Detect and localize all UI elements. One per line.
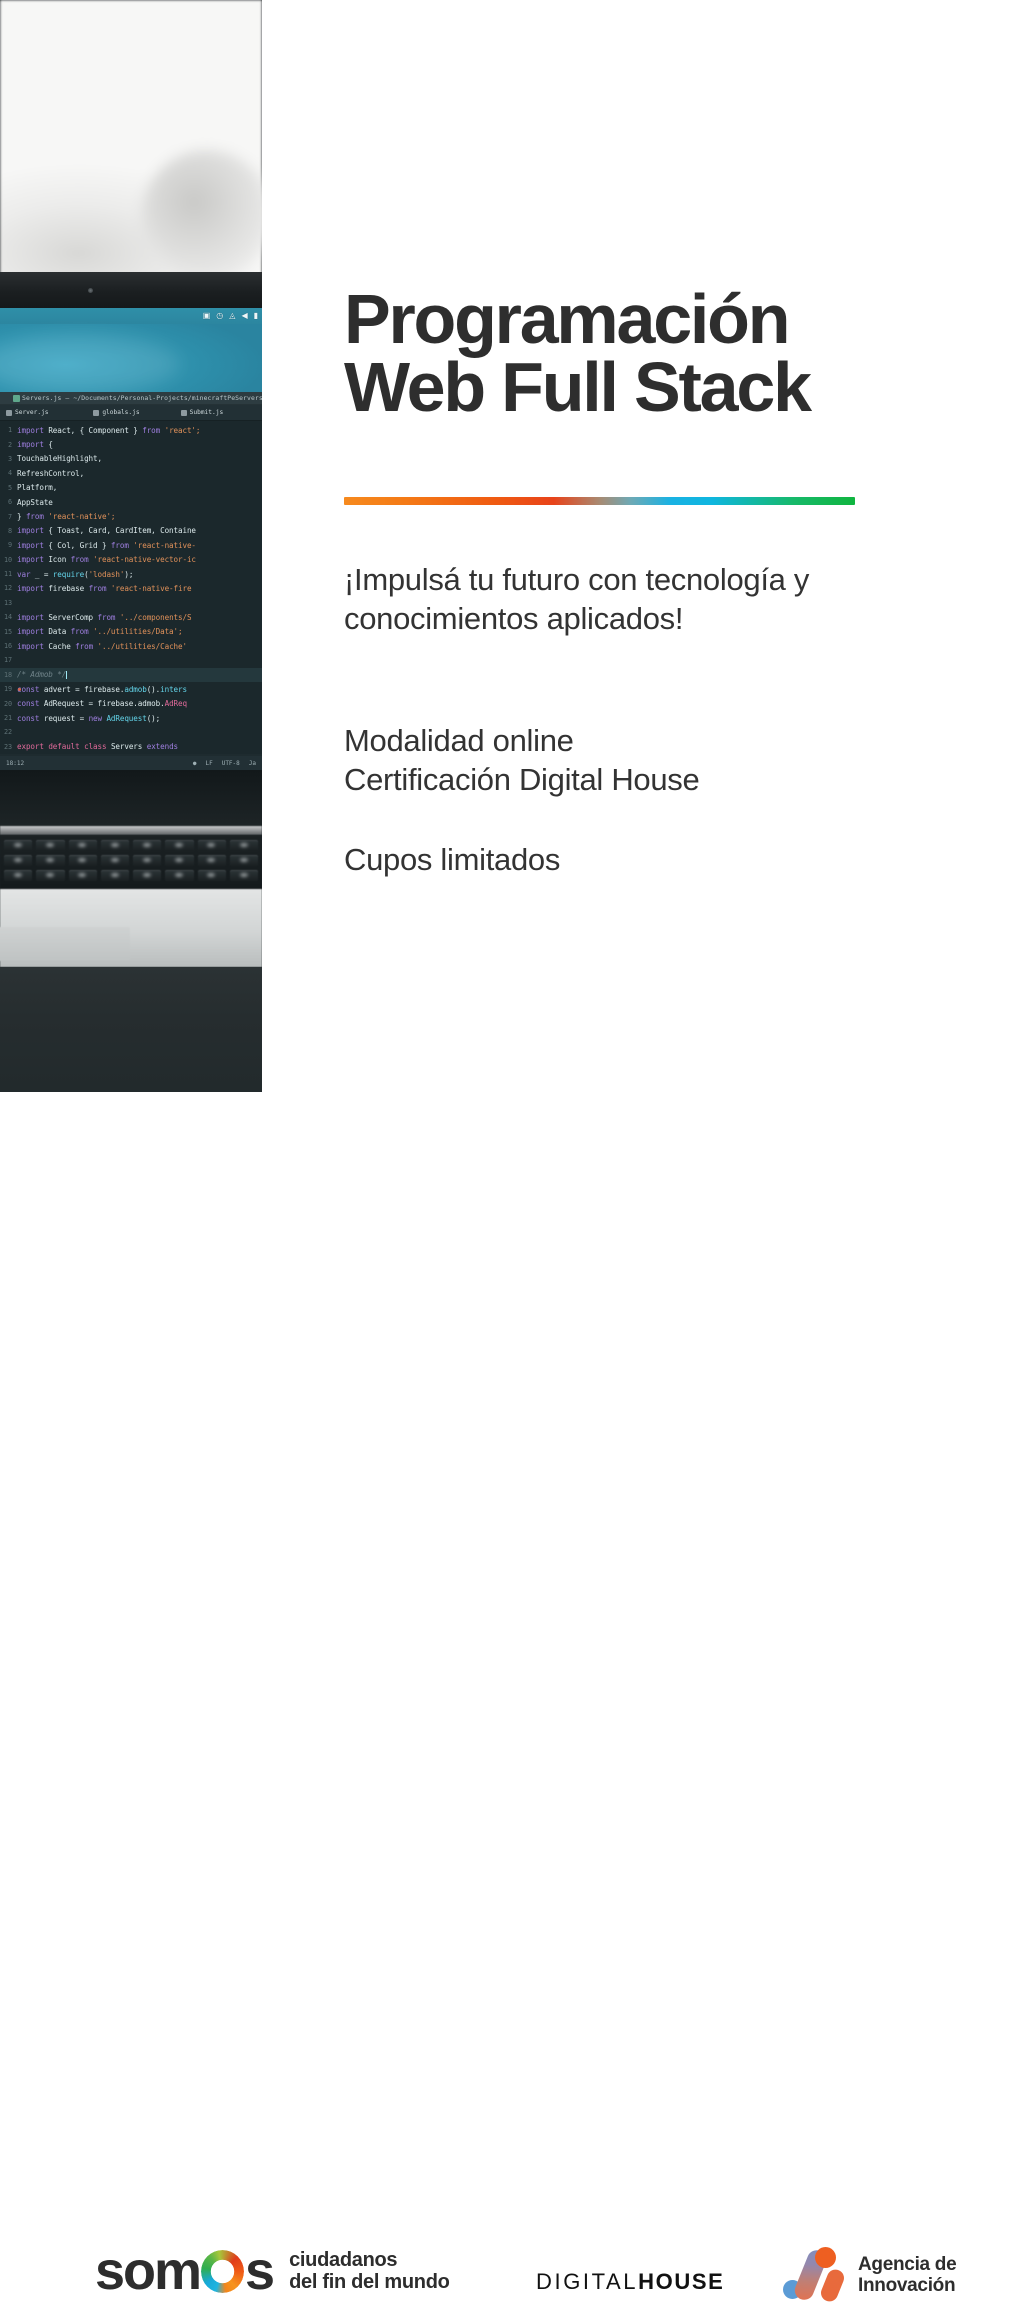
code-text: } from 'react-native'; <box>17 512 115 521</box>
somos-logo: som s ciudadanos del fin del mundo <box>95 2244 450 2298</box>
tagline-paragraph: ¡Impulsá tu futuro con tecnología y cono… <box>344 560 814 638</box>
camera-icon: ▣ <box>203 312 211 320</box>
keyboard-key <box>198 840 226 851</box>
somos-wordmark: som s <box>95 2244 273 2298</box>
keyboard-key <box>36 855 64 866</box>
line-number: 14 <box>0 613 17 621</box>
js-file-icon <box>181 410 187 416</box>
line-number: 16 <box>0 642 17 650</box>
keyboard-key <box>230 855 258 866</box>
encoding: UTF-8 <box>222 760 240 767</box>
code-text: import firebase from 'react-native-fire <box>17 584 191 593</box>
somos-tagline: ciudadanos del fin del mundo <box>289 2249 449 2294</box>
line-number: 5 <box>0 484 17 492</box>
code-line: 23export default class Servers extends <box>0 740 262 754</box>
key-row <box>0 868 262 883</box>
code-line: 15import Data from '../utilities/Data'; <box>0 624 262 638</box>
code-text: RefreshControl, <box>17 469 84 478</box>
laptop-keyboard <box>0 835 262 889</box>
laptop-screen-bezel <box>0 272 262 308</box>
line-number: 12 <box>0 584 17 592</box>
line-number: 18 <box>0 671 17 679</box>
code-line: 7} from 'react-native'; <box>0 509 262 523</box>
code-text: import { Toast, Card, CardItem, Containe <box>17 526 196 535</box>
code-text: import Icon from 'react-native-vector-ic <box>17 555 196 564</box>
code-text: import { Col, Grid } from 'react-native- <box>17 541 196 550</box>
code-line: 16import Cache from '../utilities/Cache' <box>0 639 262 653</box>
line-number: 19 <box>0 685 17 693</box>
code-text: AppState <box>17 498 53 507</box>
code-area: 1import React, { Component } from 'react… <box>0 421 262 754</box>
code-line: 19const advert = firebase.admob().inters <box>0 682 262 696</box>
code-line: 9import { Col, Grid } from 'react-native… <box>0 538 262 552</box>
keyboard-key <box>36 870 64 881</box>
cursor-position: 18:12 <box>6 760 24 767</box>
code-line: 5 Platform, <box>0 481 262 495</box>
keyboard-key <box>133 840 161 851</box>
line-number: 23 <box>0 743 17 751</box>
code-line: 4 RefreshControl, <box>0 466 262 480</box>
code-text: export default class Servers extends <box>17 742 178 751</box>
line-number: 6 <box>0 498 17 506</box>
code-text: import { <box>17 440 53 449</box>
keyboard-key <box>69 870 97 881</box>
keyboard-key <box>165 870 193 881</box>
code-text: TouchableHighlight, <box>17 454 102 463</box>
key-row <box>0 853 262 868</box>
code-line: 14import ServerComp from '../components/… <box>0 610 262 624</box>
keyboard-key <box>101 855 129 866</box>
code-line: 18/* Admob */ <box>0 668 262 682</box>
editor-tab[interactable]: globals.js <box>87 405 174 421</box>
key-row <box>0 838 262 853</box>
keyboard-key <box>165 855 193 866</box>
keyboard-key <box>230 840 258 851</box>
clock-icon: ◷ <box>216 312 223 320</box>
code-text: const advert = firebase.admob().inters <box>17 685 187 694</box>
code-text: import ServerComp from '../components/S <box>17 613 191 622</box>
agencia-line-1: Agencia de <box>858 2254 956 2275</box>
volume-icon: ◀ <box>241 312 247 320</box>
editor-tab-label: Submit.js <box>190 409 224 416</box>
code-editor-window: Servers.js — ~/Documents/Personal-Projec… <box>0 392 262 770</box>
agencia-innovacion-text: Agencia de Innovación <box>858 2254 956 2297</box>
webcam-icon <box>88 288 93 293</box>
laptop-palmrest <box>0 889 262 967</box>
code-text: import Data from '../utilities/Data'; <box>17 627 182 636</box>
trackpad <box>0 927 130 961</box>
code-text: /* Admob */ <box>17 670 67 679</box>
line-number: 7 <box>0 513 17 521</box>
digital-house-logo: DIGITAL HOUSE <box>536 2269 724 2295</box>
os-menubar: ▣ ◷ ◬ ◀ ▮ <box>0 308 262 324</box>
line-number: 20 <box>0 700 17 708</box>
language-mode: Ja <box>249 760 256 767</box>
somos-tagline-line-2: del fin del mundo <box>289 2271 449 2293</box>
line-number: 13 <box>0 599 17 607</box>
content-column: Programación Web Full Stack ¡Impulsá tu … <box>344 0 944 1092</box>
agencia-innovacion-logo: Agencia de Innovación <box>783 2247 956 2303</box>
screen-lower-bezel <box>0 770 262 826</box>
keyboard-key <box>230 870 258 881</box>
keyboard-key <box>4 870 32 881</box>
gradient-divider <box>344 497 855 505</box>
code-text: const request = new AdRequest(); <box>17 714 160 723</box>
keyboard-key <box>69 840 97 851</box>
code-line: 3 TouchableHighlight, <box>0 452 262 466</box>
wifi-icon: ◬ <box>229 312 235 320</box>
keyboard-key <box>101 870 129 881</box>
orange-dot-shape <box>815 2247 836 2268</box>
code-line: 22 <box>0 725 262 739</box>
file-icon <box>13 395 20 402</box>
desk-surface <box>0 967 262 1092</box>
modality-paragraph: Modalidad online Certificación Digital H… <box>344 721 814 799</box>
keyboard-key <box>4 855 32 866</box>
headline-line-1: Programación <box>344 280 788 358</box>
code-line: 10import Icon from 'react-native-vector-… <box>0 553 262 567</box>
orange-bar-shape <box>818 2267 846 2304</box>
editor-statusbar: 18:12 ● LF UTF-8 Ja <box>0 756 262 770</box>
somos-word-before: som <box>95 2244 200 2298</box>
laptop-photo: ▣ ◷ ◬ ◀ ▮ Servers.js — ~/Documents/Perso… <box>0 0 262 1092</box>
modality-line-1: Modalidad online <box>344 723 574 758</box>
line-number: 2 <box>0 441 17 449</box>
line-number: 4 <box>0 469 17 477</box>
code-line: 11var _ = require('lodash'); <box>0 567 262 581</box>
keyboard-key <box>133 870 161 881</box>
code-text: const AdRequest = firebase.admob.AdReq <box>17 699 187 708</box>
modified-indicator: ● <box>193 760 197 767</box>
editor-tab-label: Server.js <box>15 409 49 416</box>
somos-ring-icon <box>201 2250 244 2293</box>
code-line: 12import firebase from 'react-native-fir… <box>0 581 262 595</box>
desktop-wallpaper <box>0 324 262 392</box>
code-line: 6 AppState <box>0 495 262 509</box>
photo-background-blur <box>0 0 262 275</box>
keyboard-key <box>198 870 226 881</box>
digital-house-light-text: DIGITAL <box>536 2269 638 2295</box>
breakpoint-icon <box>18 688 21 691</box>
keyboard-key <box>36 840 64 851</box>
line-number: 22 <box>0 728 17 736</box>
line-number: 15 <box>0 628 17 636</box>
code-line: 1import React, { Component } from 'react… <box>0 423 262 437</box>
keyboard-key <box>4 840 32 851</box>
somos-word-after: s <box>245 2244 273 2298</box>
code-line: 20const AdRequest = firebase.admob.AdReq <box>0 696 262 710</box>
js-file-icon <box>6 410 12 416</box>
line-number: 11 <box>0 570 17 578</box>
laptop-base <box>0 770 262 1092</box>
code-line: 2import { <box>0 437 262 451</box>
code-line: 21const request = new AdRequest(); <box>0 711 262 725</box>
digital-house-bold-text: HOUSE <box>638 2269 724 2295</box>
editor-titlebar: Servers.js — ~/Documents/Personal-Projec… <box>0 392 262 405</box>
keyboard-key <box>198 855 226 866</box>
code-line: 8import { Toast, Card, CardItem, Contain… <box>0 524 262 538</box>
headline-line-2: Web Full Stack <box>344 348 810 426</box>
line-number: 10 <box>0 556 17 564</box>
page-title: Programación Web Full Stack <box>344 286 954 422</box>
keyboard-key <box>133 855 161 866</box>
agencia-line-2: Innovación <box>858 2275 955 2296</box>
line-ending: LF <box>205 760 212 767</box>
laptop-hinge <box>0 826 262 835</box>
code-line: 17 <box>0 653 262 667</box>
line-number: 21 <box>0 714 17 722</box>
somos-tagline-line-1: ciudadanos <box>289 2249 397 2271</box>
code-text: Platform, <box>17 483 57 492</box>
agencia-innovacion-mark-icon <box>783 2247 845 2303</box>
code-text: var _ = require('lodash'); <box>17 570 133 579</box>
code-text: import React, { Component } from 'react'… <box>17 426 200 435</box>
line-number: 3 <box>0 455 17 463</box>
line-number: 1 <box>0 426 17 434</box>
footer-logos: som s ciudadanos del fin del mundo DIGIT… <box>0 1092 1024 1280</box>
text-cursor <box>66 671 67 679</box>
modality-line-2: Certificación Digital House <box>344 762 699 797</box>
code-line: 13 <box>0 596 262 610</box>
line-number: 9 <box>0 541 17 549</box>
editor-tab[interactable]: Submit.js <box>175 405 262 421</box>
code-text: import Cache from '../utilities/Cache' <box>17 642 187 651</box>
keyboard-key <box>69 855 97 866</box>
keyboard-key <box>101 840 129 851</box>
editor-title: Servers.js — ~/Documents/Personal-Projec… <box>22 394 262 402</box>
editor-tab-label: globals.js <box>102 409 139 416</box>
js-file-icon <box>93 410 99 416</box>
line-number: 17 <box>0 656 17 664</box>
seats-paragraph: Cupos limitados <box>344 840 814 879</box>
keyboard-key <box>165 840 193 851</box>
editor-tabbar: Server.js globals.js Submit.js <box>0 405 262 421</box>
battery-icon: ▮ <box>254 312 258 320</box>
editor-tab[interactable]: Server.js <box>0 405 87 421</box>
line-number: 8 <box>0 527 17 535</box>
